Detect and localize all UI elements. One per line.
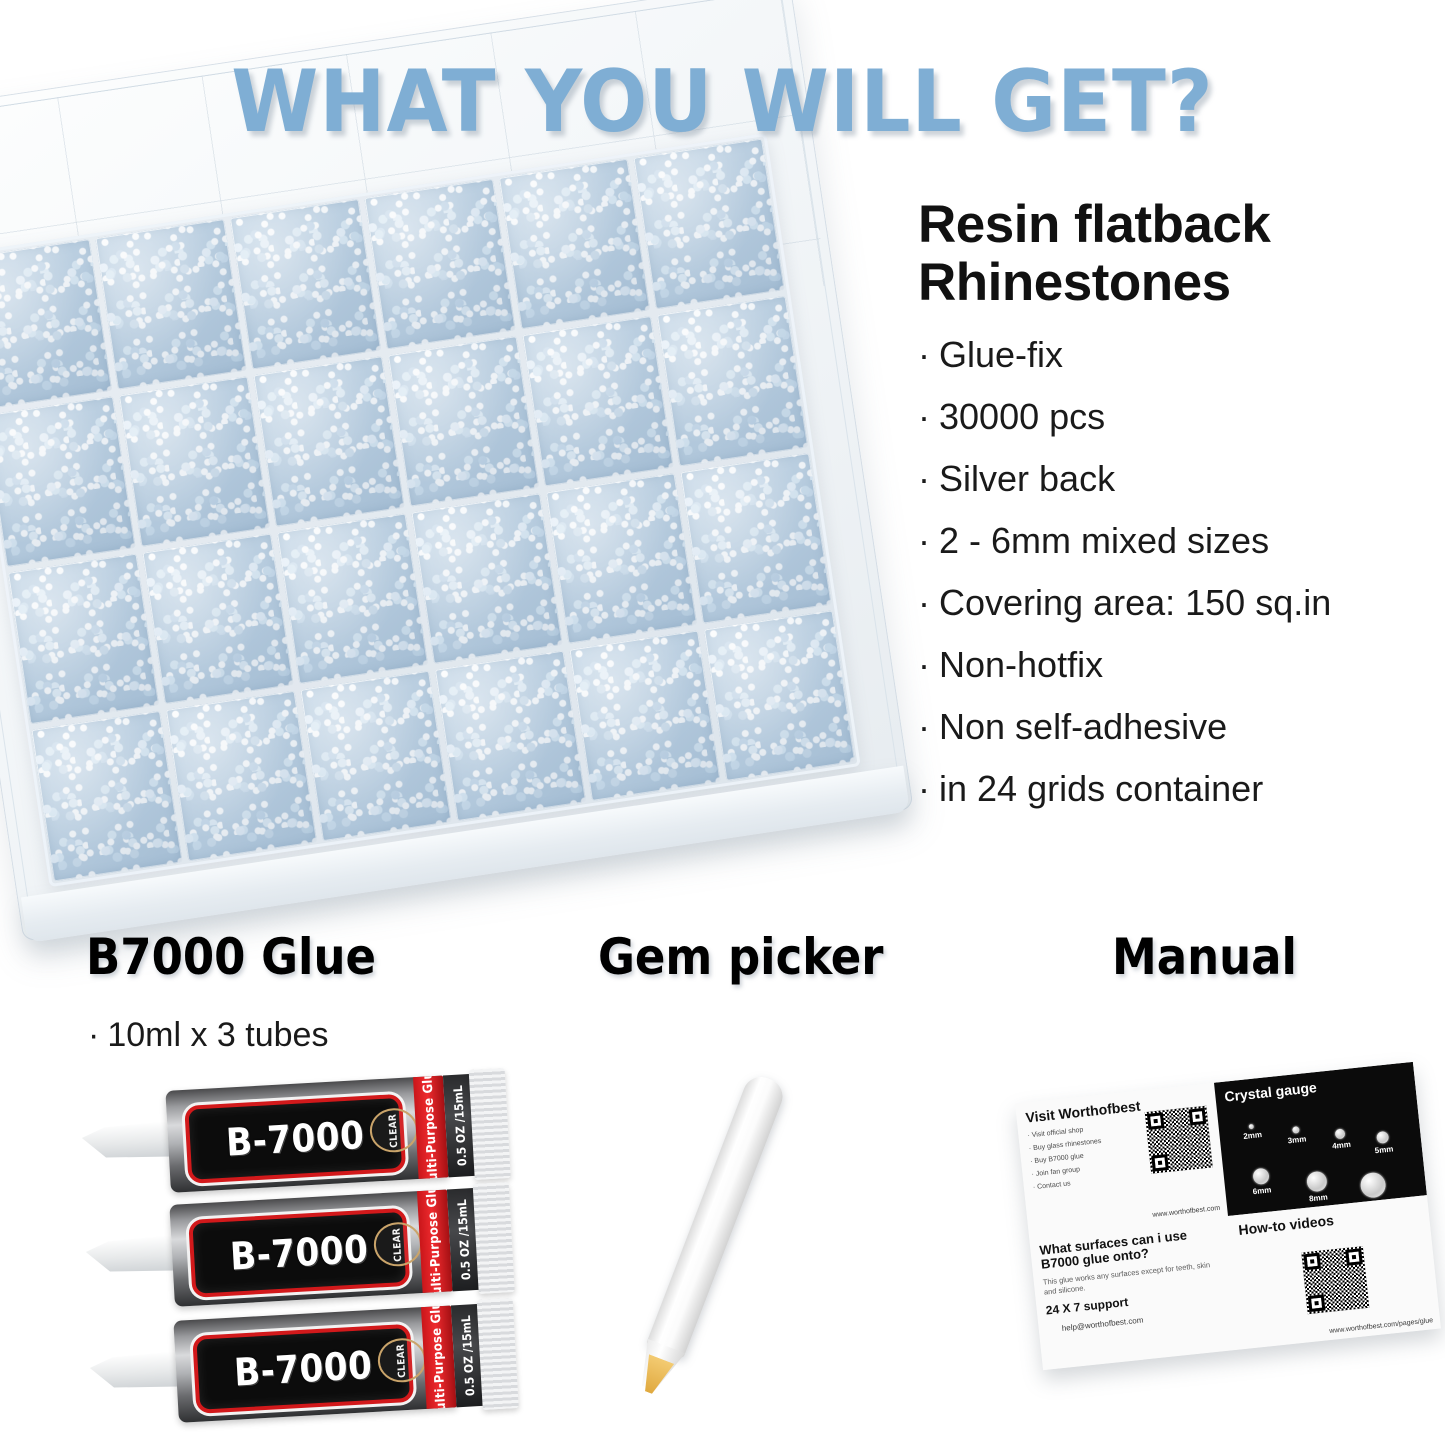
bullet-text: Silver back [939, 458, 1115, 499]
infographic-canvas: WHAT YOU WILL GET? [0, 0, 1445, 1437]
bullet-dot-icon: · [88, 1016, 99, 1054]
bullet-text: Covering area: 150 sq.in [939, 582, 1331, 623]
qr-code-shop-icon [1145, 1106, 1213, 1174]
bullet-text: Glue-fix [939, 334, 1063, 375]
bullet-dot-icon: · [918, 396, 930, 437]
manual-quadrant-videos: How-to videos www.worthofbest.com/pages/… [1228, 1195, 1441, 1349]
bullet-dot-icon: · [918, 706, 930, 747]
grid-cell [0, 396, 136, 567]
tube-body: B-7000 CLEAR Multi-Purpose Glue [165, 1075, 448, 1192]
grid-cell [680, 453, 831, 624]
grid-cell [546, 473, 697, 644]
bullet-dot-icon: · [918, 768, 930, 809]
grid-cell [31, 711, 182, 882]
tube-crimp-seal [473, 1182, 515, 1294]
bullet-text: 30000 pcs [939, 396, 1105, 437]
gauge-size-5mm: 5mm [1373, 1131, 1394, 1156]
list-item: ·in 24 grids container [918, 771, 1438, 807]
glue-tube: B-7000 CLEAR Multi-Purpose Glue 0.5 OZ /… [83, 1186, 508, 1311]
grid-cell [522, 316, 673, 487]
manual-card-image: Visit Worthofbest Visit official shop Bu… [1015, 1062, 1441, 1370]
rhinestone-box [0, 133, 861, 887]
page-title: WHAT YOU WILL GET? [0, 52, 1445, 152]
glue-tube: B-7000 CLEAR Multi-Purpose Glue 0.5 OZ /… [87, 1302, 512, 1427]
list-item: ·2 - 6mm mixed sizes [918, 523, 1438, 559]
grid-cell [411, 493, 562, 664]
videos-url: www.worthofbest.com/pages/glue [1329, 1317, 1433, 1335]
section-heading-glue: B7000 Glue [86, 928, 376, 986]
glue-tubes-image: B-7000 CLEAR Multi-Purpose Glue 0.5 OZ /… [70, 1078, 550, 1437]
rhinestone-container-image [0, 150, 888, 940]
product-heading: Resin flatback Rhinestones [918, 196, 1438, 313]
tube-body: B-7000 CLEAR Multi-Purpose Glue [173, 1305, 456, 1422]
tube-crimp-seal [469, 1068, 511, 1180]
tube-volume-text: 0.5 OZ /15mL [454, 1199, 472, 1280]
gauge-dots: 2mm 3mm 4mm 5mm 6mm 8mm 10mm [1226, 1091, 1419, 1216]
visit-url: www.worthofbest.com [1152, 1205, 1220, 1219]
bullet-dot-icon: · [918, 334, 930, 375]
grid-cell [142, 534, 293, 705]
bullet-text: 2 - 6mm mixed sizes [939, 520, 1269, 561]
grid-cell [277, 513, 428, 684]
grid-cell [253, 356, 404, 527]
grid-cell [230, 199, 381, 370]
gauge-size-4mm: 4mm [1330, 1128, 1351, 1151]
tube-brand-text: B-7000 [229, 1227, 370, 1279]
list-item: ·Covering area: 150 sq.in [918, 585, 1438, 621]
tube-brand-text: B-7000 [225, 1113, 366, 1165]
section-heading-manual: Manual [1112, 928, 1297, 986]
grid-cell [633, 139, 784, 310]
tube-purpose-text: Multi-Purpose Glue [428, 1305, 450, 1422]
grid-cell [95, 219, 246, 390]
bullet-text: in 24 grids container [939, 768, 1263, 809]
manual-quadrant-visit: Visit Worthofbest Visit official shop Bu… [1015, 1083, 1228, 1237]
list-item: ·Glue-fix [918, 337, 1438, 373]
bullet-dot-icon: · [918, 582, 930, 623]
tube-brand-text: B-7000 [233, 1343, 374, 1395]
qr-code-videos-icon [1301, 1246, 1369, 1314]
list-item: ·Non-hotfix [918, 647, 1438, 683]
section-heading-gem-picker: Gem picker [598, 928, 884, 986]
tube-nozzle [85, 1234, 183, 1275]
gem-picker-image [625, 1069, 796, 1397]
glue-subtext-value: 10ml x 3 tubes [107, 1016, 328, 1054]
tube-purpose-text: Multi-Purpose Glue [424, 1189, 446, 1306]
grid-cell [0, 239, 112, 410]
gauge-size-8mm: 8mm [1306, 1171, 1329, 1204]
grid-cell [166, 691, 317, 862]
grid-cell [119, 376, 270, 547]
gauge-size-2mm: 2mm [1242, 1123, 1262, 1141]
product-heading-line1: Resin flatback [918, 195, 1270, 254]
grid-cell [435, 651, 586, 822]
tube-clear-text: CLEAR [395, 1343, 408, 1377]
grid-cell [499, 159, 650, 330]
bullet-text: Non self-adhesive [939, 706, 1227, 747]
grid-cell [569, 630, 720, 801]
glue-subtext: ·10ml x 3 tubes [88, 1016, 328, 1055]
container-tray [0, 133, 861, 887]
tube-volume-text: 0.5 OZ /15mL [450, 1085, 468, 1166]
tube-purpose-text: Multi-Purpose Glue [420, 1075, 442, 1192]
product-bullet-list: ·Glue-fix ·30000 pcs ·Silver back ·2 - 6… [918, 337, 1438, 807]
bullet-text: Non-hotfix [939, 644, 1103, 685]
tube-clear-text: CLEAR [387, 1113, 400, 1147]
product-spec-block: Resin flatback Rhinestones ·Glue-fix ·30… [918, 196, 1438, 833]
list-item: ·Non self-adhesive [918, 709, 1438, 745]
tube-clear-text: CLEAR [391, 1227, 404, 1261]
grid-cell [657, 296, 808, 467]
grid-cell [8, 554, 159, 725]
tube-nozzle [81, 1120, 179, 1161]
list-item: ·30000 pcs [918, 399, 1438, 435]
tube-crimp-seal [477, 1298, 519, 1410]
tube-nozzle [89, 1350, 187, 1391]
bullet-dot-icon: · [918, 458, 930, 499]
list-item: ·Silver back [918, 461, 1438, 497]
grid-cell [704, 610, 855, 781]
grid-cell [388, 336, 539, 507]
tube-body: B-7000 CLEAR Multi-Purpose Glue [169, 1189, 452, 1306]
grid-cell [300, 671, 451, 842]
bullet-dot-icon: · [918, 520, 930, 561]
picker-body [646, 1072, 788, 1359]
gauge-size-3mm: 3mm [1286, 1125, 1306, 1145]
glue-tube: B-7000 CLEAR Multi-Purpose Glue 0.5 OZ /… [79, 1072, 504, 1197]
manual-quadrant-crystal-gauge: Crystal gauge 2mm 3mm 4mm 5mm 6mm 8mm 10… [1214, 1062, 1427, 1216]
rhinestone-grid [0, 139, 855, 882]
gauge-size-6mm: 6mm [1250, 1167, 1271, 1196]
tube-volume-text: 0.5 OZ /15mL [458, 1315, 476, 1396]
product-heading-line2: Rhinestones [918, 253, 1231, 312]
bullet-dot-icon: · [918, 644, 930, 685]
manual-quadrant-surfaces: What surfaces can i use B7000 glue onto?… [1029, 1216, 1242, 1370]
grid-cell [364, 179, 515, 350]
